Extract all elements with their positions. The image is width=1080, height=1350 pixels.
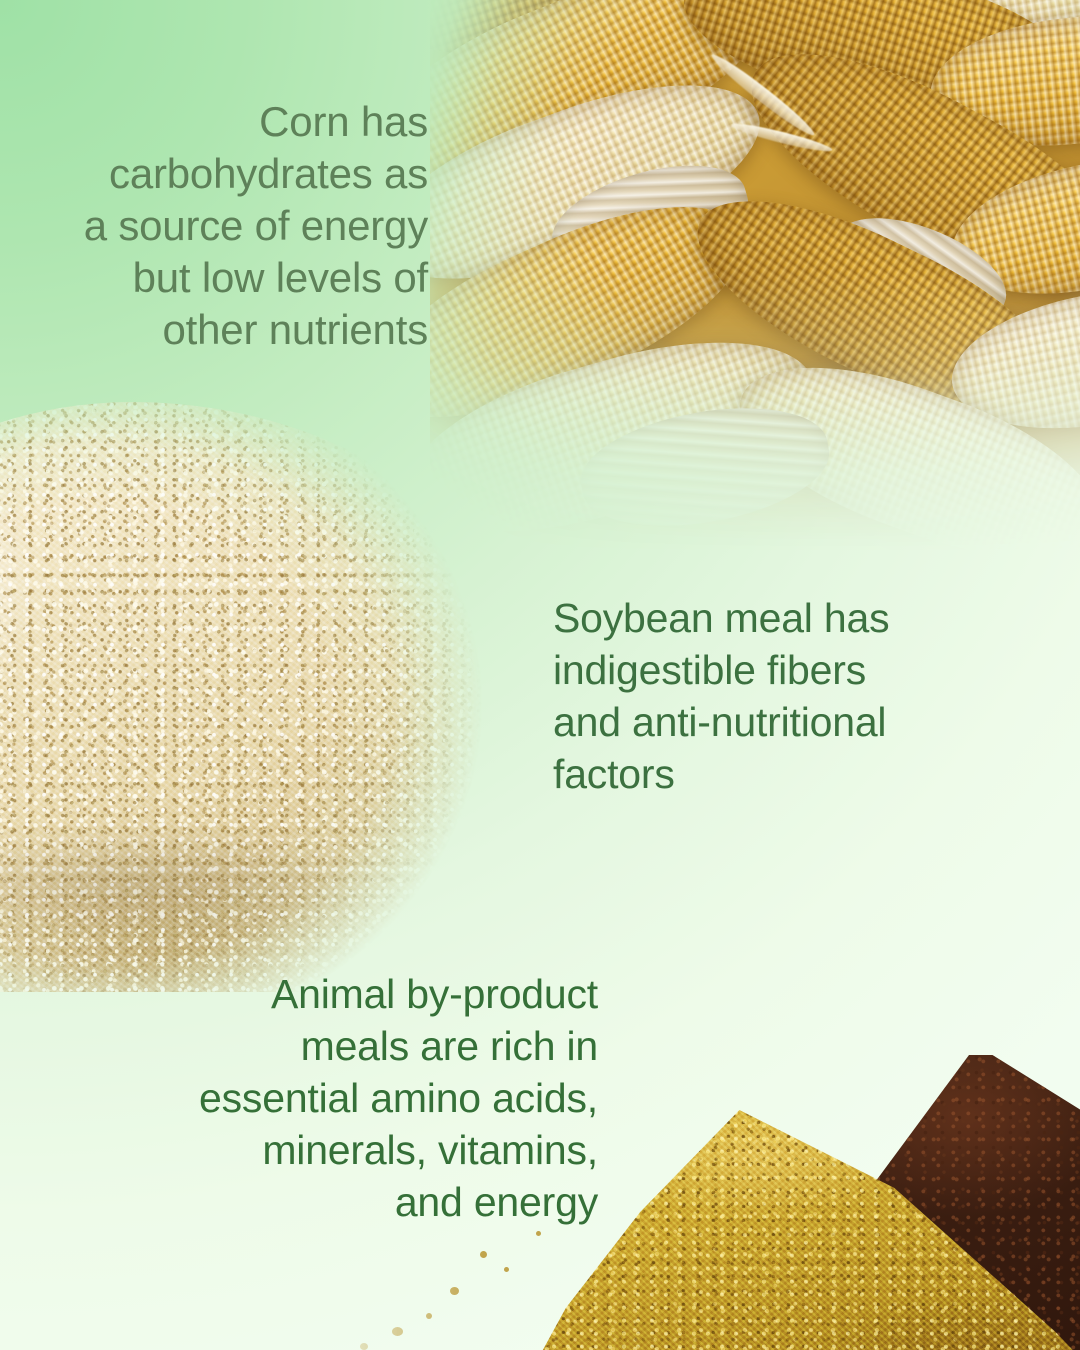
powder-speck <box>450 1287 459 1295</box>
animal-byproduct-caption-text: Animal by-product meals are rich in esse… <box>199 968 598 1228</box>
corn-caption-text: Corn has carbohydrates as a source of en… <box>84 96 428 356</box>
powder-speck <box>426 1313 432 1319</box>
powder-speck <box>504 1267 509 1272</box>
powder-speck <box>392 1327 403 1336</box>
powder-speck <box>360 1343 368 1350</box>
soybean-meal-photo <box>0 392 550 992</box>
powder-speck <box>536 1231 541 1236</box>
infographic-poster: Corn has carbohydrates as a source of en… <box>0 0 1080 1350</box>
powder-speck <box>480 1251 487 1258</box>
soybean-caption-text: Soybean meal has indigestible fibers and… <box>553 592 889 800</box>
